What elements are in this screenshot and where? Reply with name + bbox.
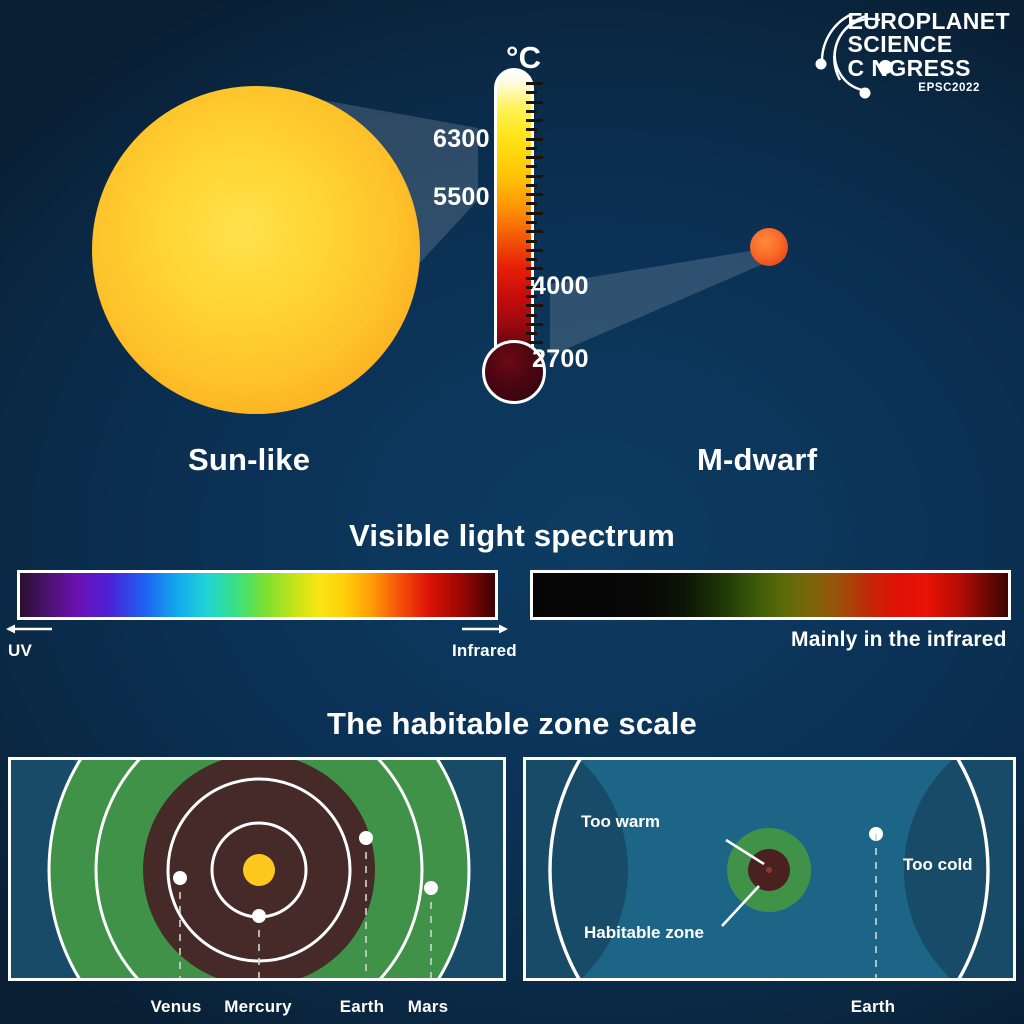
thermometer-ticks [526, 82, 548, 360]
sun-like-label: Sun-like [188, 442, 310, 478]
planet-dot-earth [359, 831, 373, 845]
planet-label-venus: Venus [130, 997, 222, 1017]
m-dwarf-star [750, 228, 788, 266]
annotation-too-warm: Too warm [581, 812, 660, 832]
planet-dot-venus [173, 871, 187, 885]
mdwarf-range-wedge [550, 248, 768, 356]
sun-system-diagram [11, 760, 503, 978]
temp-label-6300: 6300 [433, 125, 490, 154]
epsc-logo: EUROPLANET SCIENCE C NGRESS EPSC2022 [800, 6, 1010, 106]
planet-label-mercury: Mercury [210, 997, 306, 1017]
m-dwarf-label: M-dwarf [697, 442, 817, 478]
temp-label-2700: 2700 [532, 345, 589, 374]
sun-like-habitable-zone-panel [8, 757, 506, 981]
habitable-zone-section-title: The habitable zone scale [0, 706, 1024, 742]
planet-dot-mars [424, 881, 438, 895]
mdwarf-habitable-zone-panel: Too warm Habitable zone Too cold [523, 757, 1016, 981]
logo-planet-dot-icon [800, 6, 1010, 106]
planet-dot-mercury [252, 909, 266, 923]
temp-label-5500: 5500 [433, 183, 490, 212]
infrared-arrow-icon [462, 622, 508, 636]
planet-label-earth-mdwarf: Earth [829, 997, 917, 1017]
temp-label-4000: 4000 [532, 272, 589, 301]
annotation-habitable-zone: Habitable zone [584, 923, 704, 943]
mdwarf-spectrum-note: Mainly in the infrared [791, 628, 1007, 652]
uv-label: UV [8, 641, 32, 661]
spectrum-section-title: Visible light spectrum [0, 518, 1024, 554]
sun-visible-spectrum-bar [17, 570, 498, 620]
annotation-too-cold: Too cold [903, 855, 973, 875]
uv-arrow-icon [6, 622, 52, 636]
planet-label-mars: Mars [384, 997, 472, 1017]
infrared-label: Infrared [452, 641, 517, 661]
infographic-canvas: EUROPLANET SCIENCE C NGRESS EPSC2022 °C … [0, 0, 1024, 1024]
sun-like-star [92, 86, 420, 414]
mdwarf-spectrum-bar [530, 570, 1011, 620]
